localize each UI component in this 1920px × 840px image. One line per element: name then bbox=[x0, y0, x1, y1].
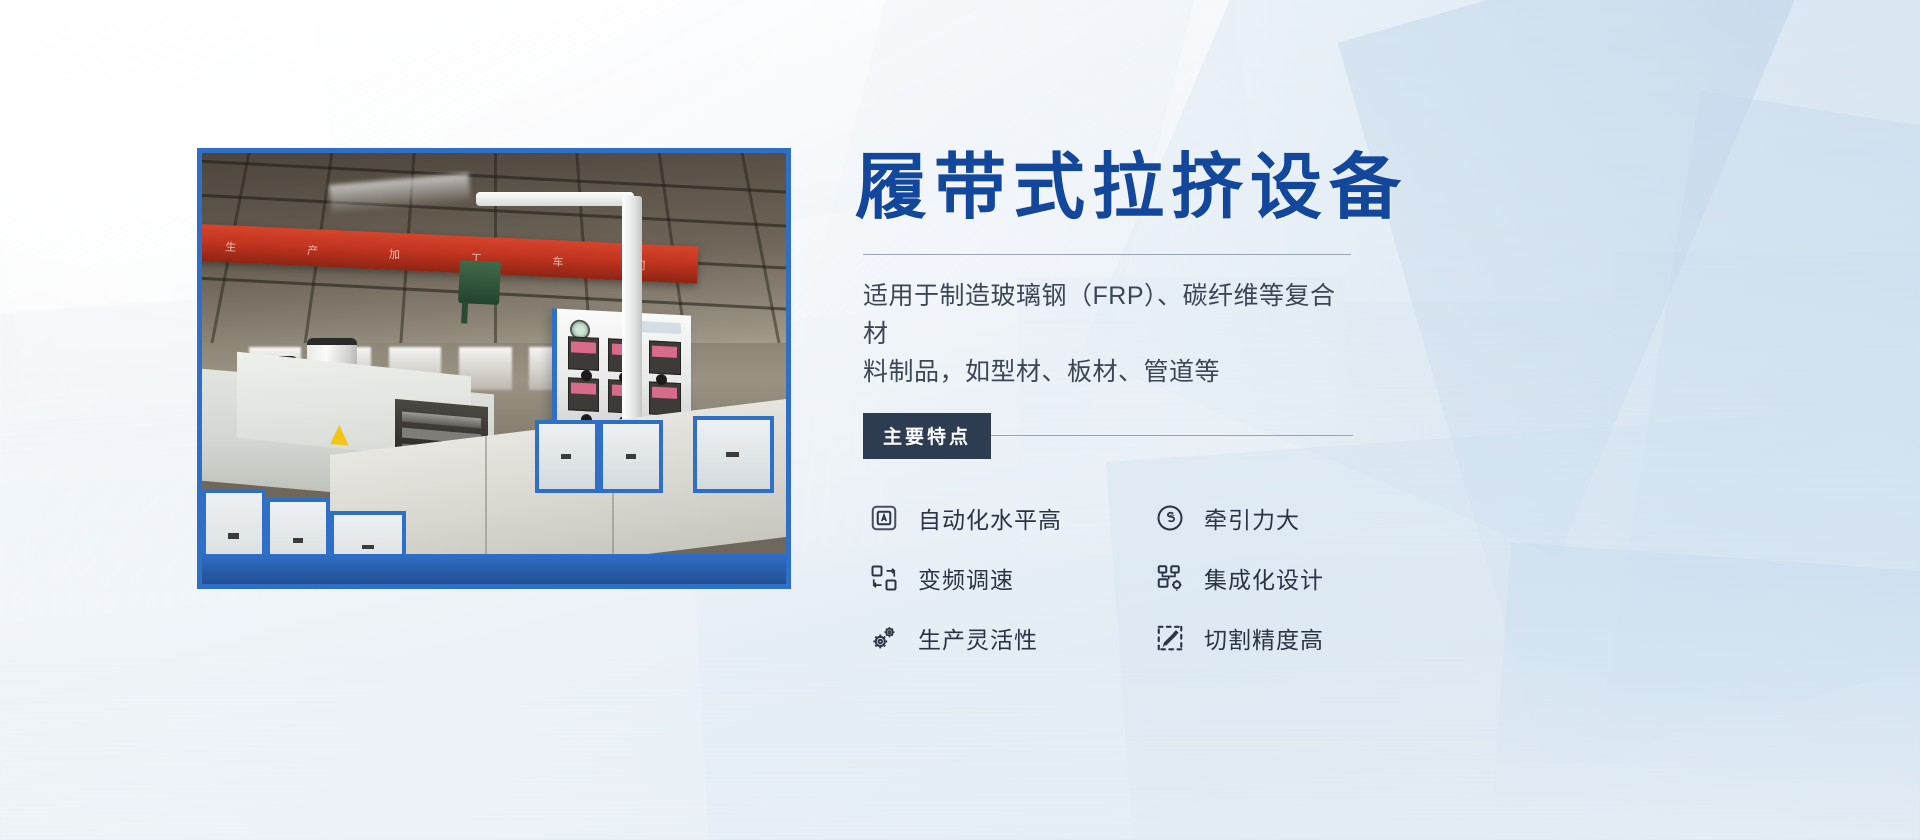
cutting-precision-icon bbox=[1153, 621, 1187, 655]
traction-force-icon bbox=[1153, 501, 1187, 535]
frequency-conversion-icon bbox=[867, 561, 901, 595]
photo-floor-band bbox=[202, 554, 786, 584]
feature-list: 自动化水平高 牵引力大 bbox=[867, 501, 1387, 655]
ghost-machine-right-3 bbox=[1613, 252, 1920, 571]
feature-label: 自动化水平高 bbox=[918, 501, 1062, 535]
feature-label: 生产灵活性 bbox=[918, 621, 1038, 655]
photo-gantry-arm bbox=[476, 192, 634, 207]
factory-photo: 生 产 加 工 车 间 bbox=[202, 153, 786, 584]
features-heading-row: 主要特点 bbox=[863, 413, 1353, 459]
feature-label: 牵引力大 bbox=[1204, 501, 1300, 535]
page-title: 履带式拉挤设备 bbox=[855, 150, 1375, 228]
product-photo-card: 生 产 加 工 车 间 bbox=[197, 148, 791, 589]
status-badge: 主要特点 bbox=[863, 413, 991, 459]
gears-flexibility-icon bbox=[867, 621, 901, 655]
feature-label: 变频调速 bbox=[918, 561, 1014, 595]
ghost-floor bbox=[0, 655, 1920, 840]
title-divider bbox=[863, 254, 1351, 255]
feature-item-flexibility[interactable]: 生产灵活性 bbox=[867, 621, 1153, 655]
crane-char: 加 bbox=[389, 246, 401, 268]
hero-content: 履带式拉挤设备 适用于制造玻璃钢（FRP）、碳纤维等复合材 料制品，如型材、板材… bbox=[855, 150, 1375, 655]
subtitle-line-2: 料制品，如型材、板材、管道等 bbox=[863, 358, 1220, 386]
crane-char: 生 bbox=[225, 238, 237, 260]
crane-char: 车 bbox=[552, 253, 564, 275]
photo-cabinet bbox=[599, 420, 663, 493]
subtitle-line-1: 适用于制造玻璃钢（FRP）、碳纤维等复合材 bbox=[863, 282, 1336, 348]
feature-item-integrated[interactable]: 集成化设计 bbox=[1153, 561, 1387, 595]
feature-item-cutting[interactable]: 切割精度高 bbox=[1153, 621, 1387, 655]
feature-item-traction[interactable]: 牵引力大 bbox=[1153, 501, 1387, 535]
feature-label: 切割精度高 bbox=[1204, 621, 1324, 655]
feature-item-automation[interactable]: 自动化水平高 bbox=[867, 501, 1153, 535]
product-hero-banner: 生 产 加 工 车 间 bbox=[0, 0, 1920, 840]
badge-divider bbox=[991, 435, 1353, 436]
photo-cabinet bbox=[693, 416, 775, 494]
photo-panel-logo bbox=[641, 322, 681, 335]
photo-crane-hoist bbox=[458, 260, 501, 305]
hero-subtitle: 适用于制造玻璃钢（FRP）、碳纤维等复合材 料制品，如型材、板材、管道等 bbox=[863, 277, 1353, 391]
feature-item-frequency[interactable]: 变频调速 bbox=[867, 561, 1153, 595]
integrated-design-icon bbox=[1153, 561, 1187, 595]
feature-label: 集成化设计 bbox=[1204, 561, 1324, 595]
crane-char: 产 bbox=[307, 242, 319, 264]
photo-cabinet bbox=[535, 420, 599, 493]
automation-panel-icon bbox=[867, 501, 901, 535]
